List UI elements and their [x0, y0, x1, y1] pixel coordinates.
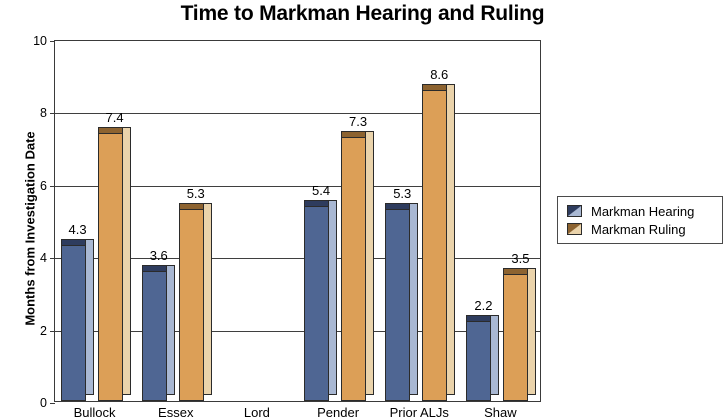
y-tick-mark [50, 41, 55, 42]
bar-markman-hearing: 4.3 [61, 239, 94, 401]
bar-front-face [341, 137, 366, 401]
bar-markman-ruling: 7.3 [341, 131, 374, 401]
x-tick-label-pender: Pender [317, 405, 359, 420]
chart-legend: Markman Hearing Markman Ruling [557, 196, 723, 244]
bar-markman-ruling: 8.6 [422, 84, 455, 401]
bar-value-label: 7.4 [94, 110, 136, 125]
bar-markman-ruling: 7.4 [98, 127, 131, 401]
bar-side-face [85, 239, 94, 395]
x-tick-label-bullock: Bullock [74, 405, 116, 420]
bar-front-face [503, 274, 528, 401]
bar-value-label: 3.6 [138, 248, 180, 263]
plot-area: 02468104.37.43.65.35.47.35.38.62.23.5 [54, 40, 541, 402]
bar-value-label: 7.3 [337, 114, 379, 129]
bar-front-face [304, 206, 329, 401]
x-tick-label-prior-aljs: Prior ALJs [390, 405, 449, 420]
bar-markman-hearing: 5.4 [304, 200, 337, 401]
y-tick-mark [50, 258, 55, 259]
y-tick-label: 6 [40, 179, 47, 193]
chart-title: Time to Markman Hearing and Ruling [0, 2, 725, 26]
bar-front-face [385, 209, 410, 401]
bar-side-face [122, 127, 131, 395]
bar-value-label: 4.3 [57, 222, 99, 237]
bar-value-label: 5.4 [300, 183, 342, 198]
bar-value-label: 2.2 [462, 298, 504, 313]
y-tick-label: 10 [33, 34, 47, 48]
y-tick-label: 8 [40, 106, 47, 120]
bar-side-face [490, 315, 499, 395]
y-tick-mark [50, 403, 55, 404]
legend-item-markman-ruling: Markman Ruling [567, 220, 722, 238]
legend-swatch-markman-hearing [567, 205, 582, 217]
legend-item-markman-hearing: Markman Hearing [567, 202, 722, 220]
y-tick-mark [50, 331, 55, 332]
bar-side-face [446, 84, 455, 395]
bar-markman-ruling: 5.3 [179, 203, 212, 401]
y-tick-mark [50, 186, 55, 187]
bar-markman-hearing: 5.3 [385, 203, 418, 401]
bar-side-face [166, 265, 175, 395]
y-axis-title: Months from Investigation Date [23, 49, 38, 409]
bar-markman-hearing: 3.6 [142, 265, 175, 401]
bar-markman-ruling: 3.5 [503, 268, 536, 401]
legend-label-markman-ruling: Markman Ruling [591, 222, 686, 237]
bar-front-face [98, 133, 123, 401]
bar-value-label: 3.5 [499, 251, 541, 266]
bar-front-face [422, 90, 447, 401]
bar-front-face [466, 321, 491, 401]
x-tick-label-essex: Essex [158, 405, 193, 420]
x-tick-label-shaw: Shaw [484, 405, 517, 420]
bar-value-label: 8.6 [418, 67, 460, 82]
bar-value-label: 5.3 [381, 186, 423, 201]
legend-label-markman-hearing: Markman Hearing [591, 204, 694, 219]
legend-swatch-markman-ruling [567, 223, 582, 235]
bar-front-face [179, 209, 204, 401]
y-tick-label: 2 [40, 324, 47, 338]
y-tick-mark [50, 113, 55, 114]
bar-side-face [203, 203, 212, 395]
bar-markman-hearing: 2.2 [466, 315, 499, 401]
y-tick-label: 0 [40, 396, 47, 410]
bar-side-face [409, 203, 418, 395]
y-tick-label: 4 [40, 251, 47, 265]
bar-front-face [61, 245, 86, 401]
bar-side-face [527, 268, 536, 395]
bar-side-face [365, 131, 374, 395]
x-tick-label-lord: Lord [244, 405, 270, 420]
bar-side-face [328, 200, 337, 395]
bar-front-face [142, 271, 167, 401]
bar-value-label: 5.3 [175, 186, 217, 201]
